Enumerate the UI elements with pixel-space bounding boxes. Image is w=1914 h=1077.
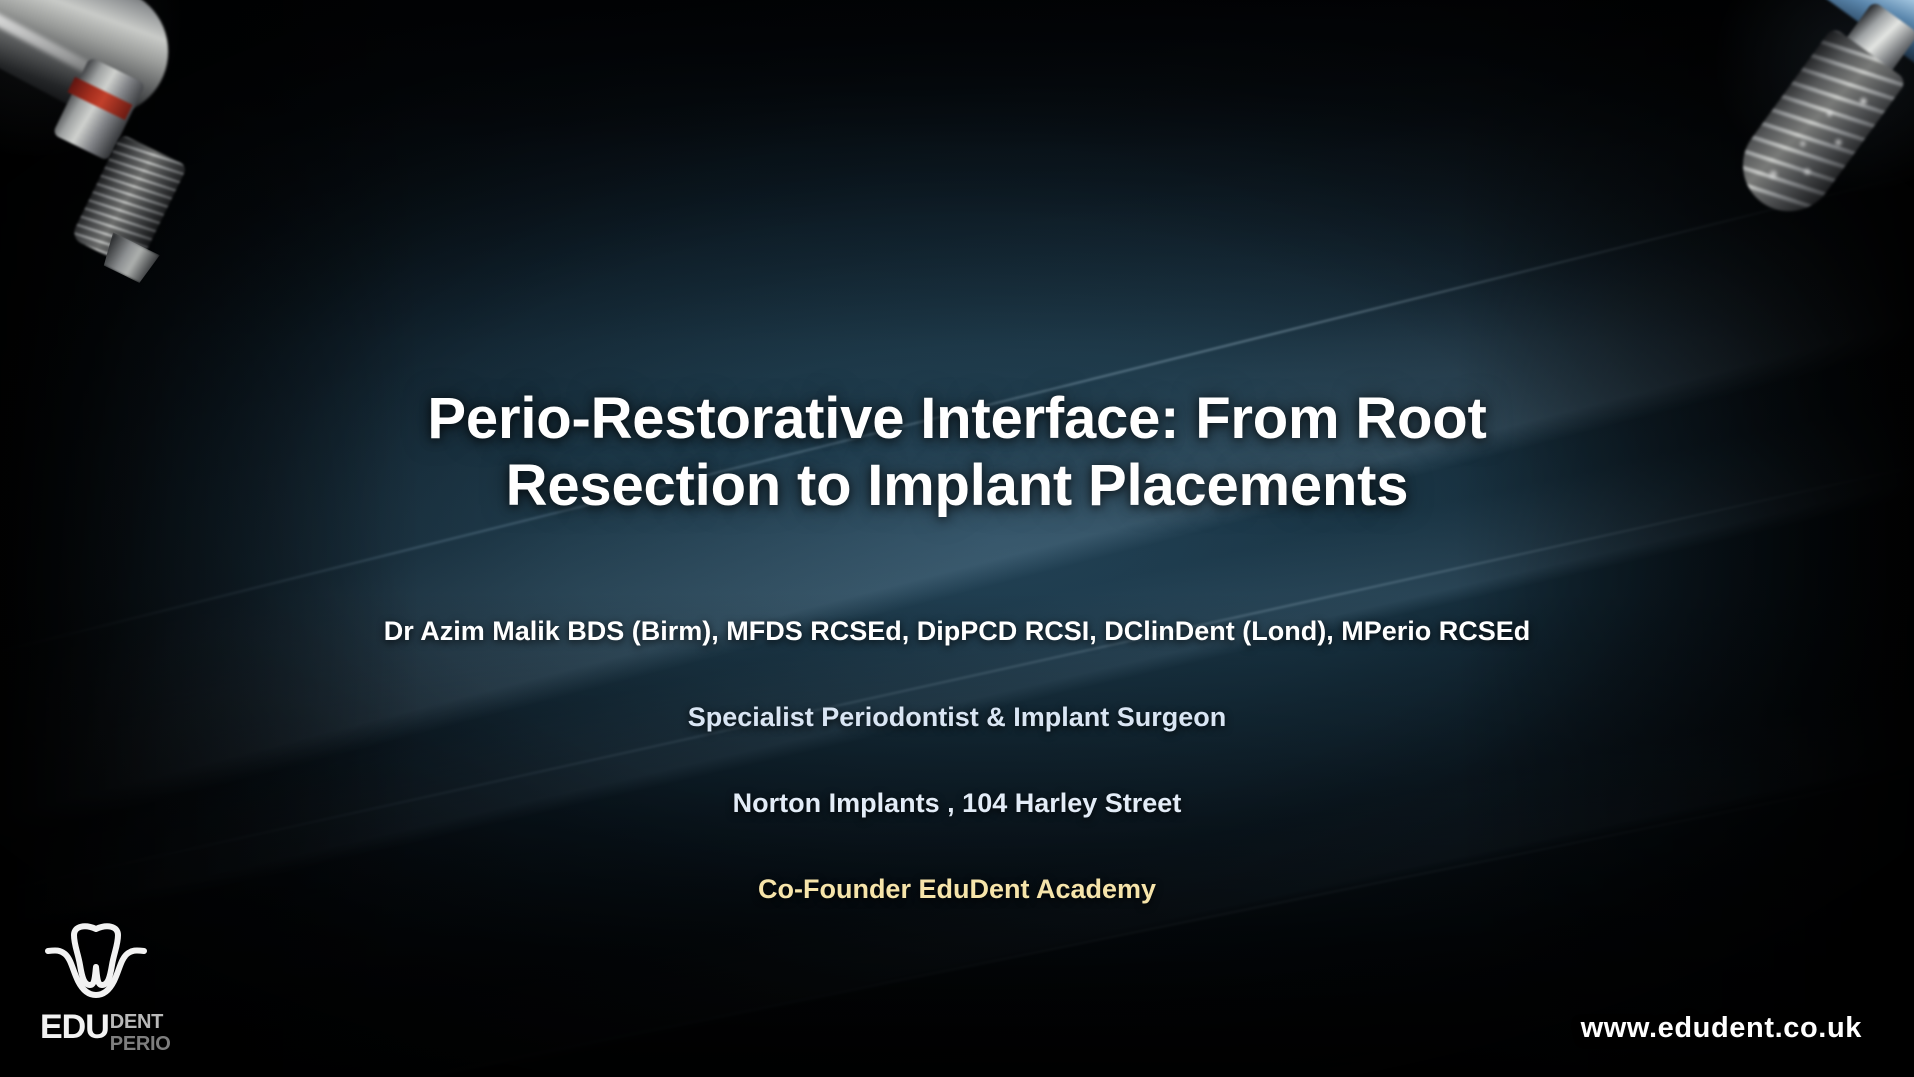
presenter-block: Dr Azim Malik BDS (Birm), MFDS RCSEd, Di… [0, 616, 1914, 905]
tooth-icon [44, 923, 148, 1009]
title-line-1: Perio-Restorative Interface: From Root [427, 386, 1486, 451]
presenter-role: Specialist Periodontist & Implant Surgeo… [0, 702, 1914, 733]
logo-word-dent: DENT [110, 1012, 171, 1032]
presenter-affiliation: Co-Founder EduDent Academy [0, 874, 1914, 905]
website-url: www.edudent.co.uk [1581, 1012, 1862, 1045]
presenter-credentials: Dr Azim Malik BDS (Birm), MFDS RCSEd, Di… [0, 616, 1914, 647]
logo-word-stack: DENT PERIO [110, 1011, 171, 1054]
page-title: Perio-Restorative Interface: From Root R… [287, 385, 1627, 520]
logo-wordmark: EDU DENT PERIO [40, 1011, 171, 1054]
title-slide: Perio-Restorative Interface: From Root R… [0, 0, 1914, 1077]
presenter-address: Norton Implants , 104 Harley Street [0, 788, 1914, 819]
logo-word-perio: PERIO [110, 1034, 171, 1054]
title-line-2: Resection to Implant Placements [506, 453, 1409, 518]
slide-content: Perio-Restorative Interface: From Root R… [0, 0, 1914, 1077]
edudent-logo: EDU DENT PERIO [22, 919, 170, 1067]
logo-word-edu: EDU [40, 1011, 109, 1043]
